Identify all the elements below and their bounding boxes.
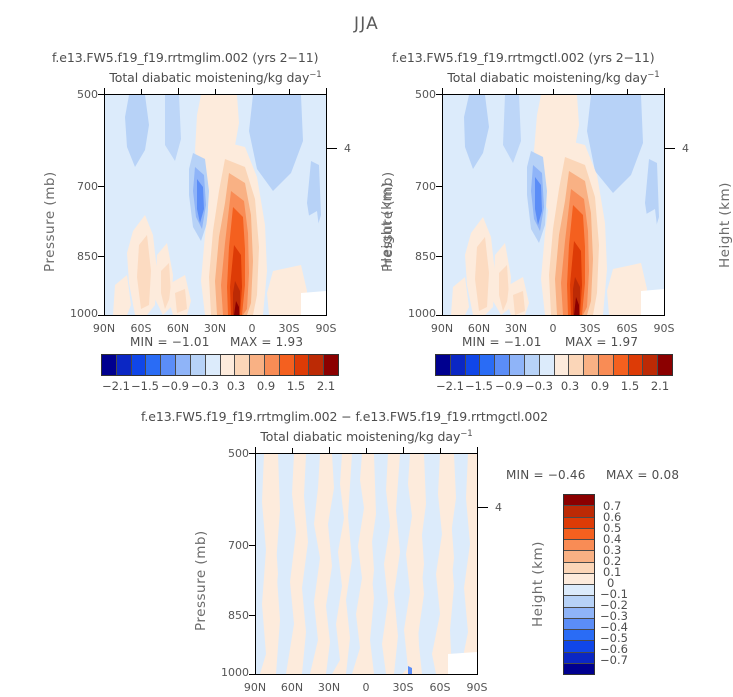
panel-diff-xtick-top-7 xyxy=(477,447,478,454)
colorbar-left-cell-6 xyxy=(191,355,206,375)
colorbar-right-cell-15 xyxy=(658,355,672,375)
panel-left-xtick-top-7 xyxy=(326,88,327,95)
panel-left-ytick-mark-1000 xyxy=(98,315,105,316)
panel-left-ytick-850: 850 xyxy=(66,250,98,263)
colorbar-right-cell-2 xyxy=(466,355,481,375)
panel-right-min-label: MIN = −1.01 xyxy=(462,335,542,349)
panel-diff-contour-field xyxy=(256,454,477,674)
colorbar-left-label-6: 1.5 xyxy=(281,379,311,393)
panel-right-xtick-top-6 xyxy=(627,89,628,94)
panel-diff-plot[interactable] xyxy=(255,453,478,675)
colorbar-left-cell-0 xyxy=(102,355,117,375)
panel-diff-xtick-label-90N: 90N xyxy=(235,681,275,694)
panel-left-xtick-top-5 xyxy=(252,88,253,95)
colorbar-right-cell-10 xyxy=(584,355,599,375)
colorbar-left-cell-2 xyxy=(132,355,147,375)
panel-left-xtick-top-3 xyxy=(178,88,179,95)
panel-diff-variable-text: Total diabatic moistening/kg day xyxy=(260,429,460,444)
panel-right-y2tick-4: 4 xyxy=(682,142,689,155)
panel-left-y2tick-4: 4 xyxy=(344,142,351,155)
colorbar-right-label-5: 0.9 xyxy=(585,379,615,393)
panel-right-ytick-mark-700 xyxy=(436,186,443,187)
colorbar-left-cell-13 xyxy=(295,355,310,375)
panel-left-plot[interactable] xyxy=(104,94,327,316)
panel-right-ytick-700: 700 xyxy=(404,180,436,193)
colorbar-right-label-6: 1.5 xyxy=(615,379,645,393)
colorbar-left-cell-15 xyxy=(324,355,338,375)
panel-right-xtick-top-5 xyxy=(590,88,591,95)
panel-diff-variable-exponent: −1 xyxy=(460,429,472,439)
panel-left-variable-text: Total diabatic moistening/kg day xyxy=(109,70,309,85)
colorbar-left-cell-1 xyxy=(117,355,132,375)
panel-diff-variable-title: Total diabatic moistening/kg day−1 xyxy=(255,429,478,444)
panel-right-y2-axis-title: Height (km) xyxy=(717,182,733,268)
panel-diff-y2tick-mark-4 xyxy=(478,507,488,508)
colorbar-diff-cell-14 xyxy=(564,653,594,664)
panel-diff-ytick-1000: 1000 xyxy=(211,666,249,679)
colorbar-right-cell-11 xyxy=(599,355,614,375)
panel-right-xtick-label-30S: 30S xyxy=(570,322,610,335)
colorbar-right-cell-8 xyxy=(555,355,570,375)
panel-left-contour-field xyxy=(105,95,326,315)
colorbar-right-cell-3 xyxy=(480,355,495,375)
colorbar-diff[interactable] xyxy=(563,494,595,675)
panel-diff-ytick-mark-1000 xyxy=(249,674,256,675)
panel-left-xtick-label-60N: 60N xyxy=(158,322,198,335)
panel-right-ytick-850: 850 xyxy=(404,250,436,263)
colorbar-left-label-7: 2.1 xyxy=(311,379,341,393)
panel-left-xtick-label-0: 0 xyxy=(232,322,272,335)
panel-diff-xtick-top-6 xyxy=(440,448,441,453)
colorbar-left-label-1: −1.5 xyxy=(130,379,160,393)
colorbar-right-cell-4 xyxy=(495,355,510,375)
panel-left-ytick-500: 500 xyxy=(66,88,98,101)
colorbar-right-label-2: −0.9 xyxy=(494,379,524,393)
colorbar-diff-cell-0 xyxy=(564,495,594,506)
colorbar-left-label-5: 0.9 xyxy=(251,379,281,393)
panel-left-ytick-mark-700 xyxy=(98,186,105,187)
panel-right-xtick-top-2 xyxy=(479,89,480,94)
panel-right-xtick-label-90S: 90S xyxy=(644,322,684,335)
panel-diff-y-axis-title: Pressure (mb) xyxy=(193,530,209,631)
panel-diff-min-label: MIN = −0.46 xyxy=(506,468,586,482)
panel-left-xtick-label-60S: 60S xyxy=(121,322,161,335)
colorbar-left-cell-10 xyxy=(250,355,265,375)
colorbar-left-cell-8 xyxy=(221,355,236,375)
panel-right-xtick-top-7 xyxy=(664,88,665,95)
colorbar-right-cell-9 xyxy=(569,355,584,375)
panel-right-xtick-top-3 xyxy=(516,88,517,95)
colorbar-diff-cell-7 xyxy=(564,574,594,585)
colorbar-diff-cell-8 xyxy=(564,585,594,596)
colorbar-diff-cell-10 xyxy=(564,608,594,619)
panel-right-variable-title: Total diabatic moistening/kg day−1 xyxy=(442,70,665,85)
colorbar-right-cell-5 xyxy=(510,355,525,375)
colorbar-right-cell-0 xyxy=(436,355,451,375)
colorbar-diff-label-14: −0.7 xyxy=(600,653,628,667)
colorbar-right-cell-7 xyxy=(540,355,555,375)
panel-left-ytick-1000: 1000 xyxy=(60,307,98,320)
colorbar-diff-cell-15 xyxy=(564,664,594,674)
panel-diff-ytick-500: 500 xyxy=(217,447,249,460)
colorbar-left-label-2: −0.9 xyxy=(160,379,190,393)
panel-right-ytick-mark-500 xyxy=(436,94,443,95)
colorbar-diff-cell-13 xyxy=(564,641,594,652)
panel-left-xtick-top-4 xyxy=(215,89,216,94)
colorbar-right-cell-12 xyxy=(614,355,629,375)
panel-diff-case-title: f.e13.FW5.f19_f19.rrtmglim.002 − f.e13.F… xyxy=(141,409,548,424)
panel-right-xtick-label-60N: 60N xyxy=(459,322,499,335)
colorbar-left-cell-4 xyxy=(161,355,176,375)
colorbar-right-label-7: 2.1 xyxy=(645,379,675,393)
colorbar-right-label-0: −2.1 xyxy=(435,379,465,393)
colorbar-left-label-0: −2.1 xyxy=(101,379,131,393)
panel-diff-xtick-label-30S: 30S xyxy=(383,681,423,694)
panel-left-ytick-700: 700 xyxy=(66,180,98,193)
panel-diff-ytick-850: 850 xyxy=(217,609,249,622)
colorbar-right-label-4: 0.3 xyxy=(555,379,585,393)
panel-diff-xtick-label-30N: 30N xyxy=(309,681,349,694)
panel-right-xtick-top-4 xyxy=(553,89,554,94)
panel-left-ytick-mark-500 xyxy=(98,94,105,95)
colorbar-right-cell-14 xyxy=(643,355,658,375)
panel-right-plot[interactable] xyxy=(442,94,665,316)
panel-diff-xtick-top-2 xyxy=(292,448,293,453)
colorbar-left-cell-3 xyxy=(146,355,161,375)
colorbar-diff-cell-4 xyxy=(564,540,594,551)
colorbar-diff-cell-12 xyxy=(564,630,594,641)
panel-diff-xtick-label-60N: 60N xyxy=(272,681,312,694)
panel-diff-ytick-mark-500 xyxy=(249,453,256,454)
colorbar-diff-cell-6 xyxy=(564,563,594,574)
panel-diff-y2tick-4: 4 xyxy=(495,501,502,514)
colorbar-right-cell-13 xyxy=(629,355,644,375)
panel-right-y2tick-mark-4 xyxy=(665,148,675,149)
panel-right-xtick-label-0: 0 xyxy=(533,322,573,335)
panel-right-ytick-500: 500 xyxy=(404,88,436,101)
panel-diff-xtick-top-5 xyxy=(403,447,404,454)
colorbar-left-label-4: 0.3 xyxy=(221,379,251,393)
panel-left-xtick-label-90N: 90N xyxy=(84,322,124,335)
panel-diff-ytick-mark-850 xyxy=(249,615,256,616)
panel-right-xtick-label-90N: 90N xyxy=(422,322,462,335)
colorbar-left-cell-11 xyxy=(265,355,280,375)
panel-diff-ytick-mark-700 xyxy=(249,545,256,546)
panel-diff-max-label: MAX = 0.08 xyxy=(606,468,679,482)
colorbar-left-label-3: −0.3 xyxy=(190,379,220,393)
colorbar-right[interactable] xyxy=(435,354,673,376)
panel-left-xtick-label-30S: 30S xyxy=(269,322,309,335)
panel-right-y-axis-title: Pressure (mb) xyxy=(380,171,396,272)
panel-left-ytick-mark-850 xyxy=(98,256,105,257)
colorbar-left-cell-12 xyxy=(280,355,295,375)
panel-left-min-label: MIN = −1.01 xyxy=(130,335,210,349)
panel-diff-xtick-label-60S: 60S xyxy=(420,681,460,694)
colorbar-diff-cell-11 xyxy=(564,619,594,630)
panel-right-case-title: f.e13.FW5.f19_f19.rrtmgctl.002 (yrs 2−11… xyxy=(392,50,654,65)
colorbar-right-label-3: −0.3 xyxy=(524,379,554,393)
panel-right-xtick-label-30N: 30N xyxy=(496,322,536,335)
panel-right-contour-field xyxy=(443,95,664,315)
panel-right-xtick-label-60S: 60S xyxy=(607,322,647,335)
panel-left-variable-title: Total diabatic moistening/kg day−1 xyxy=(104,70,327,85)
panel-left-xtick-label-90S: 90S xyxy=(306,322,346,335)
panel-left-xtick-top-6 xyxy=(289,89,290,94)
colorbar-left-cell-5 xyxy=(176,355,191,375)
colorbar-right-cell-6 xyxy=(525,355,540,375)
panel-left-xtick-top-2 xyxy=(141,89,142,94)
colorbar-left-cell-9 xyxy=(235,355,250,375)
panel-left-y2tick-mark-4 xyxy=(327,148,337,149)
panel-diff-xtick-label-0: 0 xyxy=(346,681,386,694)
panel-diff-ytick-700: 700 xyxy=(217,539,249,552)
panel-right-variable-text: Total diabatic moistening/kg day xyxy=(447,70,647,85)
panel-diff-xtick-label-90S: 90S xyxy=(457,681,497,694)
panel-right-ytick-mark-850 xyxy=(436,256,443,257)
panel-diff-y2-axis-title: Height (km) xyxy=(530,541,546,627)
panel-right-variable-exponent: −1 xyxy=(647,70,659,80)
panel-left-y-axis-title: Pressure (mb) xyxy=(42,171,58,272)
panel-right-ytick-1000: 1000 xyxy=(398,307,436,320)
panel-right-max-label: MAX = 1.97 xyxy=(565,335,638,349)
colorbar-diff-cell-5 xyxy=(564,551,594,562)
panel-left-xtick-label-30N: 30N xyxy=(195,322,235,335)
panel-diff-xtick-top-3 xyxy=(329,447,330,454)
panel-left-variable-exponent: −1 xyxy=(309,70,321,80)
colorbar-diff-cell-2 xyxy=(564,518,594,529)
colorbar-diff-cell-3 xyxy=(564,529,594,540)
panel-left-case-title: f.e13.FW5.f19_f19.rrtmglim.002 (yrs 2−11… xyxy=(52,50,318,65)
panel-left-max-label: MAX = 1.93 xyxy=(230,335,303,349)
colorbar-diff-cell-9 xyxy=(564,596,594,607)
panel-diff-xtick-top-4 xyxy=(366,448,367,453)
colorbar-left-cell-14 xyxy=(309,355,324,375)
panel-right-ytick-mark-1000 xyxy=(436,315,443,316)
colorbar-left[interactable] xyxy=(101,354,339,376)
colorbar-right-cell-1 xyxy=(451,355,466,375)
colorbar-left-cell-7 xyxy=(206,355,221,375)
colorbar-diff-cell-1 xyxy=(564,506,594,517)
season-title: JJA xyxy=(0,14,733,34)
colorbar-right-label-1: −1.5 xyxy=(464,379,494,393)
